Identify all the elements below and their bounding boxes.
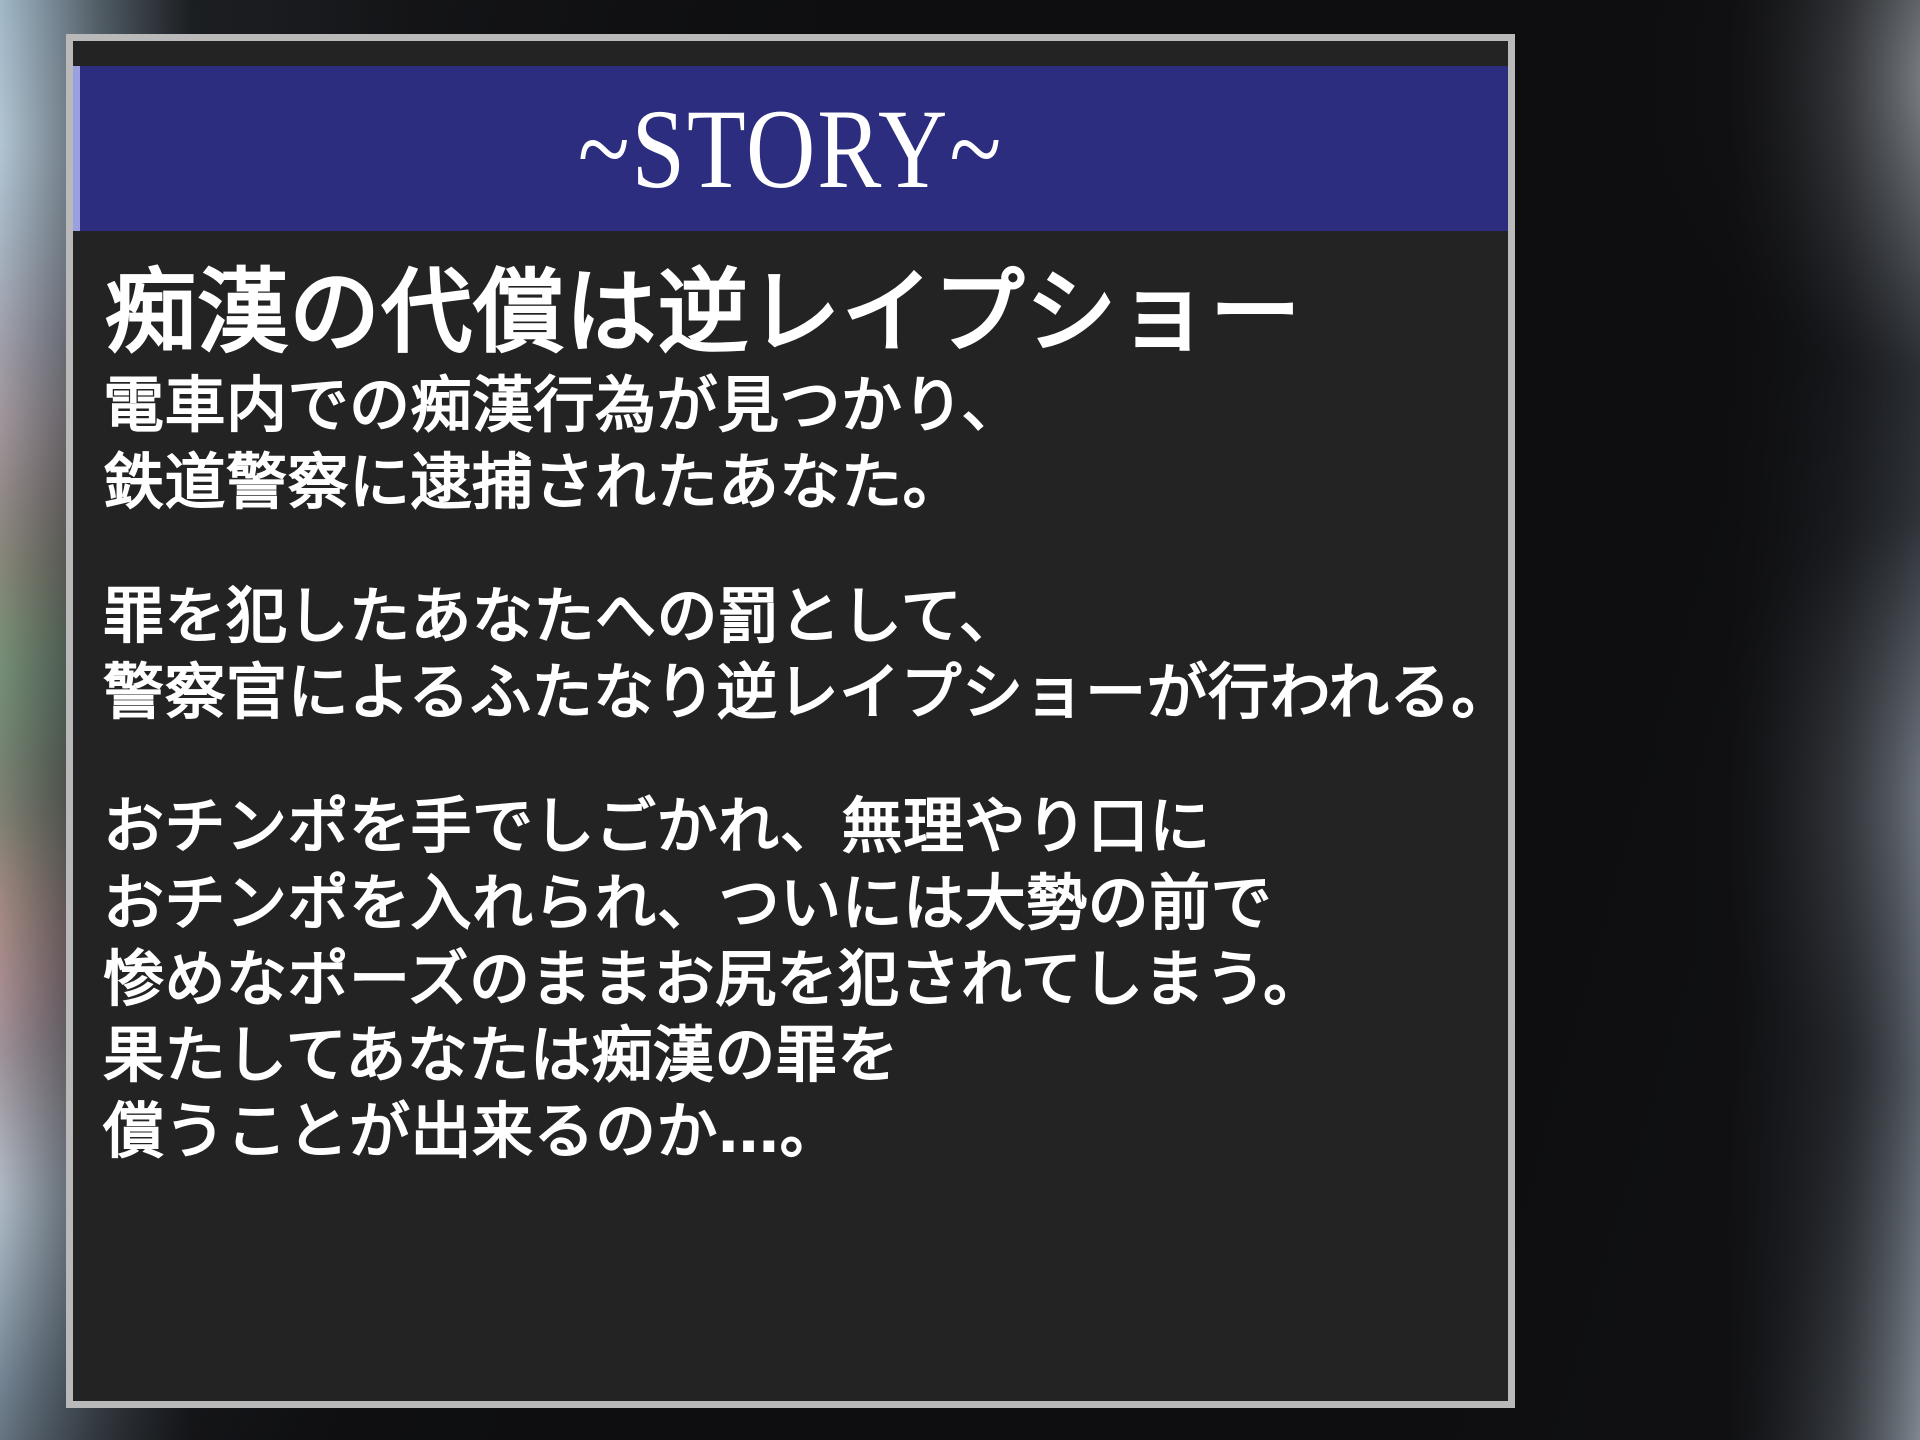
screenshot-stage: ~STORY~ 痴漢の代償は逆レイプショー 電車内での痴漢行為が見つかり、 鉄道… <box>0 0 1920 1440</box>
story-content: 痴漢の代償は逆レイプショー 電車内での痴漢行為が見つかり、 鉄道警察に逮捕された… <box>73 231 1508 1401</box>
story-line: 鉄道警察に逮捕されたあなた。 <box>103 445 1490 521</box>
story-line: 果たしてあなたは痴漢の罪を <box>103 1018 1490 1094</box>
story-card-inner: ~STORY~ 痴漢の代償は逆レイプショー 電車内での痴漢行為が見つかり、 鉄道… <box>73 41 1508 1401</box>
story-card: ~STORY~ 痴漢の代償は逆レイプショー 電車内での痴漢行為が見つかり、 鉄道… <box>66 34 1515 1408</box>
story-headline: 痴漢の代償は逆レイプショー <box>95 263 1476 362</box>
story-line: おチンポを手でしごかれ、無理やり口に <box>103 789 1490 865</box>
story-line: 惨めなポーズのままお尻を犯されてしまう。 <box>103 942 1490 1018</box>
story-line: 罪を犯したあなたへの罰として、 <box>103 579 1490 655</box>
story-banner-title: ~STORY~ <box>578 92 1004 205</box>
banner-left-accent-bar <box>73 66 80 231</box>
story-line: 償うことが出来るのか…。 <box>103 1094 1490 1170</box>
story-paragraph-3: おチンポを手でしごかれ、無理やり口に おチンポを入れられ、ついには大勢の前で 惨… <box>95 789 1490 1170</box>
story-banner: ~STORY~ <box>73 66 1508 231</box>
story-line: 警察官によるふたなり逆レイプショーが行われる。 <box>103 655 1490 731</box>
story-paragraph-2: 罪を犯したあなたへの罰として、 警察官によるふたなり逆レイプショーが行われる。 <box>95 579 1490 732</box>
story-line: 電車内での痴漢行為が見つかり、 <box>103 368 1490 444</box>
story-line: おチンポを入れられ、ついには大勢の前で <box>103 866 1490 942</box>
story-paragraph-1: 電車内での痴漢行為が見つかり、 鉄道警察に逮捕されたあなた。 <box>95 368 1490 521</box>
